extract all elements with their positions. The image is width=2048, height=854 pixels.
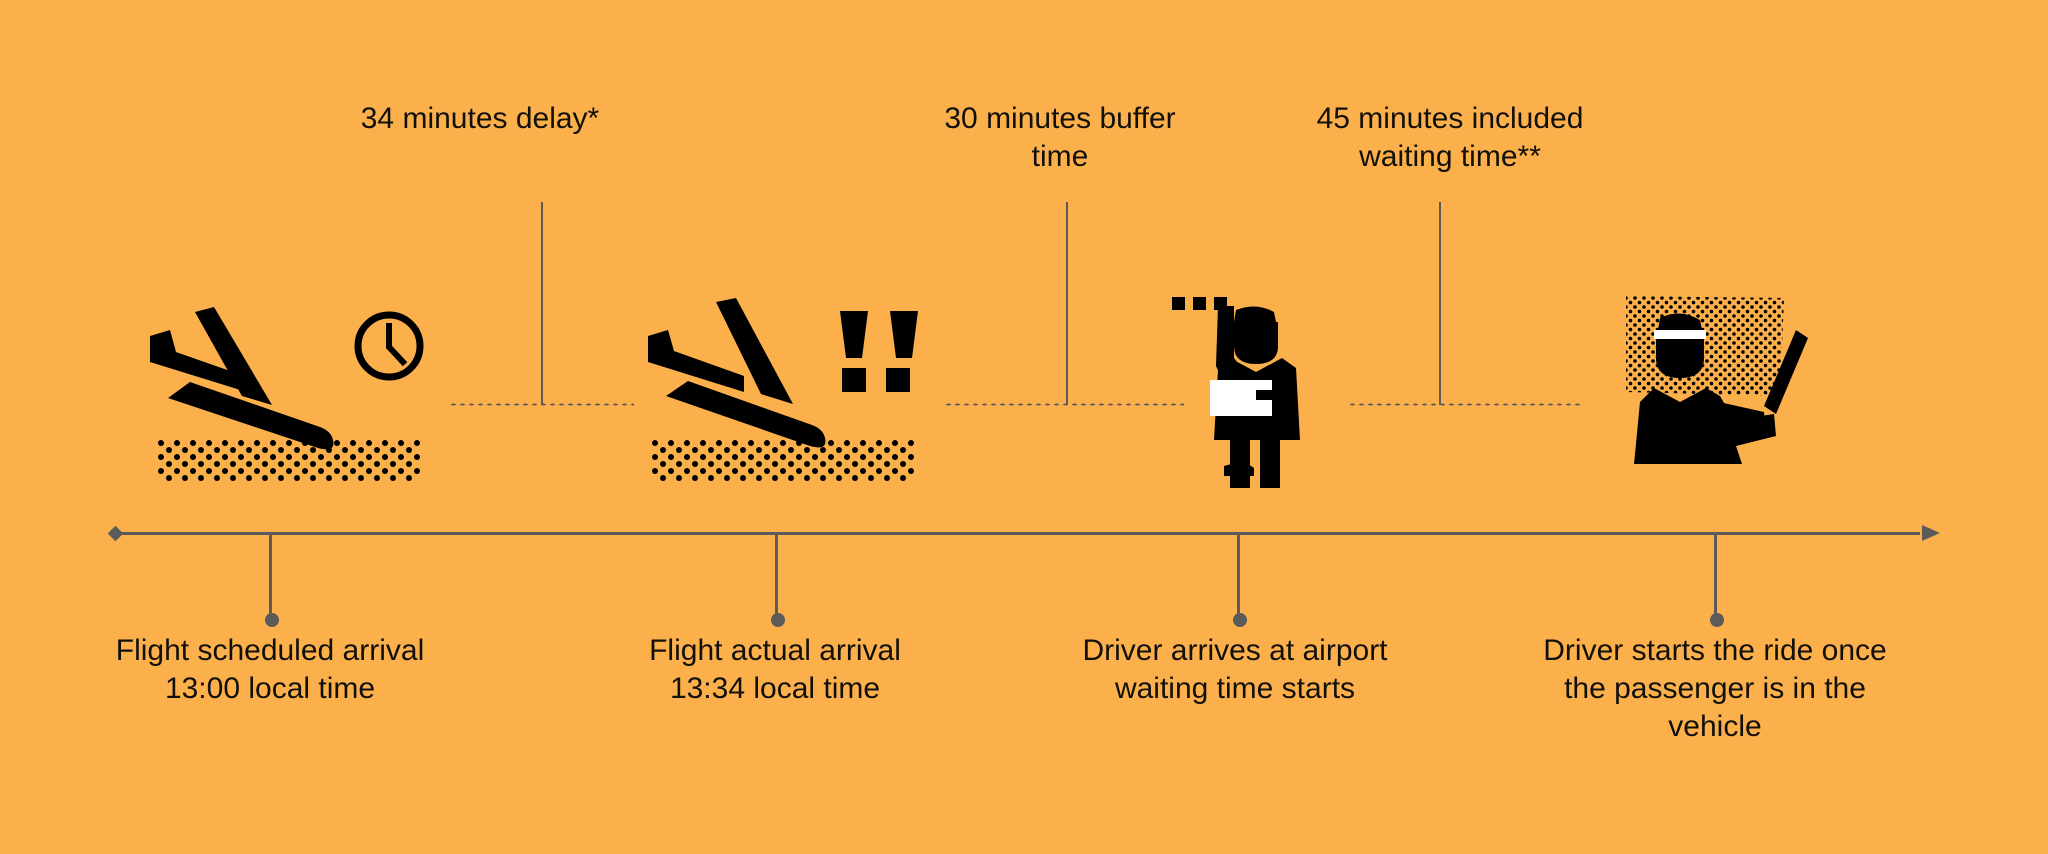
dotted-guide-delay: [449, 403, 634, 406]
event-stem-flight-actual: [775, 532, 778, 620]
event-label-flight-actual: Flight actual arrival 13:34 local time: [600, 632, 950, 708]
interval-tick-buffer: [1066, 202, 1068, 405]
event-label-flight-scheduled: Flight scheduled arrival 13:00 local tim…: [75, 632, 465, 708]
driver-in-vehicle-icon: [1624, 296, 1824, 466]
event-dot-ride-starts: [1710, 613, 1724, 627]
driver-waving-sign-icon: [1168, 280, 1318, 488]
event-dot-flight-scheduled: [265, 613, 279, 627]
interval-label-waiting: 45 minutes included waiting time**: [1260, 100, 1640, 176]
event-stem-ride-starts: [1714, 532, 1717, 620]
timeline-line: [110, 532, 1920, 535]
interval-label-buffer: 30 minutes buffer time: [870, 100, 1250, 176]
event-label-driver-arrives: Driver arrives at airport waiting time s…: [1055, 632, 1415, 708]
event-stem-driver-arrives: [1237, 532, 1240, 620]
event-stem-flight-scheduled: [269, 532, 272, 620]
airplane-shadow-dots-2: [652, 440, 916, 482]
event-dot-flight-actual: [771, 613, 785, 627]
interval-tick-waiting: [1439, 202, 1441, 405]
infographic-canvas: 34 minutes delay* 30 minutes buffer time…: [0, 0, 2048, 854]
interval-label-delay: 34 minutes delay*: [300, 100, 660, 138]
interval-tick-delay: [541, 202, 543, 405]
event-label-ride-starts: Driver starts the ride once the passenge…: [1505, 632, 1925, 746]
event-dot-driver-arrives: [1233, 613, 1247, 627]
timeline-axis: [110, 520, 1940, 550]
timeline-arrow-icon: [1922, 525, 1940, 541]
dotted-guide-waiting: [1348, 403, 1582, 406]
dotted-guide-buffer: [944, 403, 1184, 406]
airplane-shadow-dots-1: [158, 440, 422, 482]
